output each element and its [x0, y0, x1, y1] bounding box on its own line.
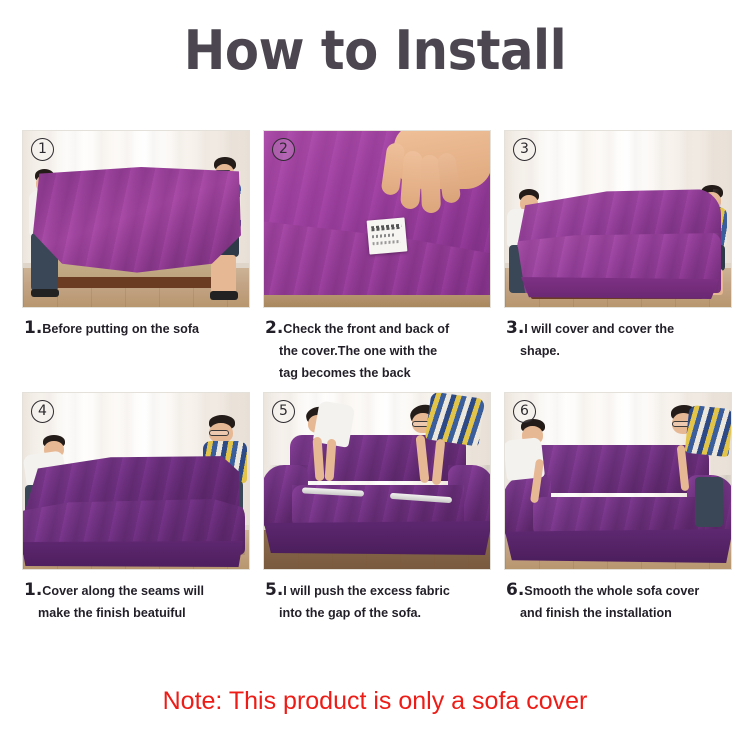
- sofa-cover: [517, 189, 721, 293]
- how-to-install-infographic: How to Install: [0, 0, 750, 750]
- step-badge: 6: [513, 400, 536, 423]
- step-4-photo: 4: [22, 392, 250, 570]
- scene-hand-checking-care-tag-on-cover: [264, 131, 490, 307]
- step-number: 3.: [506, 318, 524, 338]
- cover-skirt: [521, 277, 719, 299]
- cover-skirt: [505, 529, 732, 563]
- person-left-bending: [300, 401, 352, 493]
- scene-two-people-holding-cover-over-sofa: [23, 131, 249, 307]
- step-4: 4 1.Cover along the seams will make the …: [22, 392, 250, 624]
- shoes: [210, 291, 238, 300]
- step-5: 5 5.I will push the excess fabric into t…: [263, 392, 491, 624]
- caption-line: Before putting on the sofa: [42, 322, 199, 336]
- care-tag: [367, 217, 408, 254]
- person-right-bending: [661, 401, 729, 531]
- step-badge: 5: [272, 400, 295, 423]
- tag-print: [372, 233, 396, 238]
- sofa-cover: [22, 455, 245, 565]
- caption-line: tag becomes the back: [265, 362, 489, 384]
- scene-finished-sofa-cover-installed: [505, 393, 731, 569]
- step-6: 6 6.Smooth the whole sofa cover and fini…: [504, 392, 732, 624]
- step-5-caption: 5.I will push the excess fabric into the…: [263, 570, 491, 624]
- step-3: 3 3.I will cover and cover the shape.: [504, 130, 732, 384]
- person-right-bending: [404, 395, 482, 505]
- step-2-caption: 2.Check the front and back of the cover.…: [263, 308, 491, 384]
- step-number: 5.: [265, 580, 283, 600]
- step-6-photo: 6: [504, 392, 732, 570]
- step-1: 1 1.Before putting on the sofa: [22, 130, 250, 384]
- step-4-caption: 1.Cover along the seams will make the fi…: [22, 570, 250, 624]
- caption-line: I will cover and cover the: [524, 322, 674, 336]
- scene-pushing-excess-fabric-into-gap: [264, 393, 490, 569]
- cover-skirt: [264, 521, 491, 555]
- scene-smoothing-cover-along-seams: [23, 393, 249, 569]
- step-1-caption: 1.Before putting on the sofa: [22, 308, 250, 340]
- legs: [695, 477, 723, 527]
- arm-pushing: [432, 439, 446, 486]
- caption-line: Check the front and back of: [283, 322, 449, 336]
- caption-line: and finish the installation: [506, 602, 730, 624]
- caption-line: Cover along the seams will: [42, 584, 204, 598]
- person-left-bending: [505, 419, 561, 527]
- sofa-cover: [33, 167, 241, 277]
- step-2-photo: 2: [263, 130, 491, 308]
- tag-print: [371, 224, 401, 232]
- caption-line: into the gap of the sofa.: [265, 602, 489, 624]
- arm-pushing: [416, 435, 430, 484]
- scene-cover-draped-over-sofa: [505, 131, 731, 307]
- step-number: 2.: [265, 318, 283, 338]
- step-badge: 3: [513, 138, 536, 161]
- caption-line: the cover.The one with the: [265, 340, 489, 362]
- caption-line: I will push the excess fabric: [283, 584, 450, 598]
- step-6-caption: 6.Smooth the whole sofa cover and finish…: [504, 570, 732, 624]
- caption-line: shape.: [506, 340, 730, 362]
- cover-skirt: [22, 541, 243, 567]
- arm-pushing: [325, 439, 337, 482]
- finger-middle: [400, 150, 423, 209]
- cover-sheet: [33, 167, 241, 277]
- torso: [685, 405, 732, 457]
- step-3-photo: 3: [504, 130, 732, 308]
- step-3-caption: 3.I will cover and cover the shape.: [504, 308, 732, 362]
- step-number: 1.: [24, 580, 42, 600]
- caption-line: make the finish beatuiful: [24, 602, 248, 624]
- step-badge: 4: [31, 400, 54, 423]
- step-2: 2 2.Check the front and back of the cove…: [263, 130, 491, 384]
- cover-folds: [33, 167, 241, 277]
- torso: [425, 392, 485, 447]
- page-title: How to Install: [30, 20, 720, 82]
- product-note: Note: This product is only a sofa cover: [0, 686, 750, 716]
- hand: [342, 130, 491, 233]
- step-number: 1.: [24, 318, 42, 338]
- step-number: 6.: [506, 580, 524, 600]
- glasses-icon: [209, 430, 229, 436]
- steps-grid: 1 1.Before putting on the sofa: [22, 130, 732, 624]
- step-badge: 1: [31, 138, 54, 161]
- caption-line: Smooth the whole sofa cover: [524, 584, 699, 598]
- tag-print: [372, 240, 400, 245]
- step-1-photo: 1: [22, 130, 250, 308]
- step-5-photo: 5: [263, 392, 491, 570]
- step-badge: 2: [272, 138, 295, 161]
- shoes: [31, 289, 59, 297]
